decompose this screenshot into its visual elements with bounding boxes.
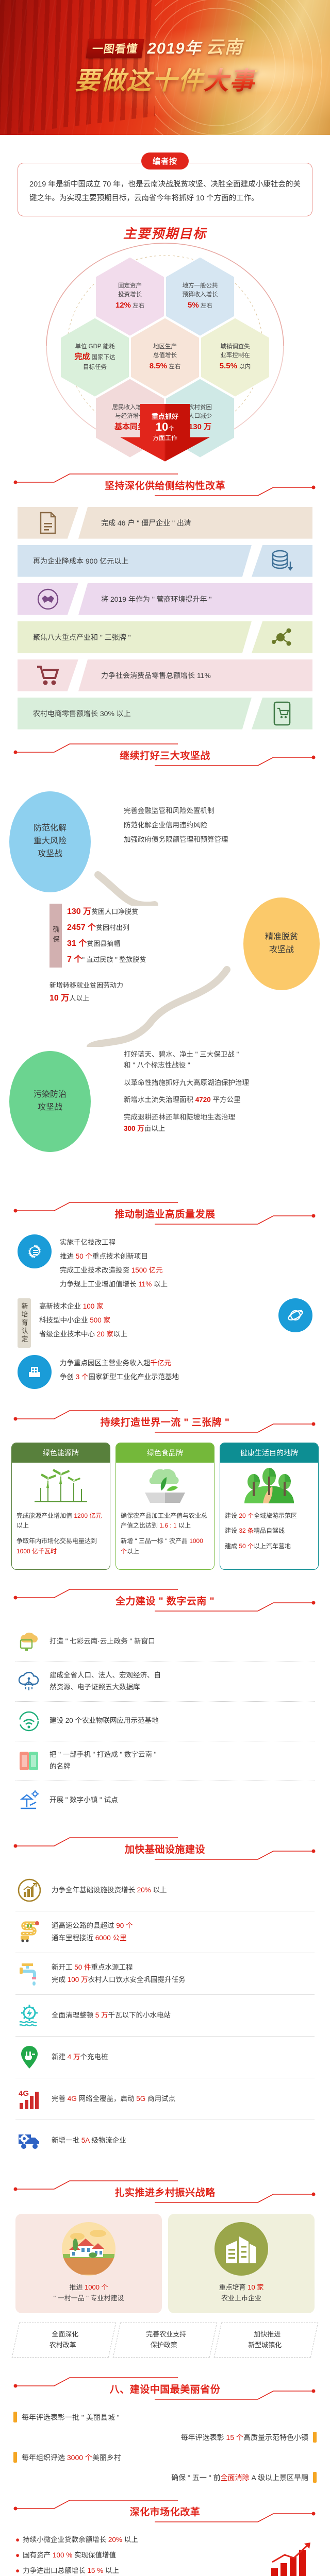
- battle-line: 加强政府债务限额管理和预算管理: [124, 833, 228, 847]
- atom-icon: [278, 1298, 312, 1332]
- section-title-battles: 继续打好三大攻坚战: [0, 736, 330, 774]
- infra-row-text: 全面清理整顿 5 万千瓦以下的小水电站: [52, 2009, 171, 2022]
- mfg-line: 实施千亿技改工程: [60, 1235, 168, 1249]
- battle-bubble-label: 污染防治攻坚战: [34, 1089, 67, 1114]
- shopping-cart-icon: [18, 659, 78, 691]
- village-chip: 加快推进新型城镇化: [214, 2323, 318, 2358]
- battle-risk: 防范化解重大风险攻坚战 完善金融监管和风险处置机制防范化解企业信用违约风险加强政…: [0, 777, 330, 906]
- village-chips: 全面深化农村改革完善农业支持保护政策加快推进新型城镇化: [0, 2313, 330, 2358]
- infra-row-text: 完善 4G 网络全覆盖，启动 5G 商用试点: [52, 2093, 175, 2105]
- mfg-line: 力争重点园区主营业务收入超千亿元: [60, 1356, 179, 1370]
- main-goals-section: 主要预期目标 固定资产投资增长12% 左右地方一般公共预算收入增长5% 左右单位…: [0, 217, 330, 460]
- svg-text:4G: 4G: [19, 2089, 29, 2098]
- digital-row: 建成全省人口、法人、宏观经济、自然资源、电子证照五大数据库: [15, 1662, 315, 1702]
- ensure-line: 7 个" 直过民族 " 整族脱贫: [67, 952, 146, 968]
- section-label-reform: 深化市场化改革: [0, 2504, 330, 2518]
- infra-row: 力争全年基础设施投资增长 20% 以上: [15, 1870, 315, 1911]
- hero-year: 2019年: [147, 35, 202, 58]
- battle-line: 防范化解企业信用违约风险: [124, 818, 228, 833]
- mfg-lines-1: 实施千亿技改工程推进 50 个重点技术创新项目完成工业技术改造投资 1500 亿…: [60, 1234, 168, 1291]
- supply-row-text: 力争社会消费品零售总额增长 11%: [78, 659, 312, 691]
- village-chip: 完善农业支持保护政策: [113, 2323, 217, 2358]
- beauty-row: 每年组织评选 3000 个美丽乡村: [13, 2452, 317, 2463]
- mfg-line: 省级企业技术中心 20 家以上: [39, 1327, 270, 1341]
- section-title-supply: 坚持深化供给侧结构性改革: [0, 466, 330, 504]
- mfg-vtag: 新培育认定: [18, 1298, 31, 1348]
- infra-row: 4G完善 4G 网络全覆盖，启动 5G 商用试点: [15, 2078, 315, 2120]
- supply-row-text: 农村电商零售额增长 30% 以上: [18, 698, 252, 730]
- poverty-extra-number: 10 万: [49, 994, 69, 1003]
- focus-arrow-line3: 方面工作: [153, 433, 177, 442]
- building-icon: [18, 1355, 52, 1389]
- infra-row-text: 新开工 50 件重点水源工程完成 100 万农村人口饮水安全巩固提升任务: [52, 1961, 186, 1986]
- mfg-group-1: 实施千亿技改工程推进 50 个重点技术创新项目完成工业技术改造投资 1500 亿…: [18, 1234, 312, 1291]
- brand-card: 绿色食品牌确保农产品加工业产值与农业总产值之比达到 1.6 : 1 以上新增 "…: [115, 1443, 214, 1570]
- supply-row-text: 再为企业降成本 900 亿元以上: [18, 545, 252, 577]
- digital-row-text: 打造 " 七彩云南·云上政务 " 新窗口: [49, 1636, 155, 1648]
- forest-path-icon: [220, 1463, 318, 1507]
- salad-bowl-icon: [116, 1463, 214, 1507]
- poverty-ensure-block: 确保 130 万贫困人口净脱贫2457 个贫困村出列31 个贫困县摘帽7 个" …: [49, 904, 204, 968]
- goal-hex: 固定资产投资增长12% 左右: [96, 258, 164, 336]
- focus-arrow-unit: 个: [168, 425, 174, 432]
- brand-card-body: 确保农产品加工业产值与农业总产值之比达到 1.6 : 1 以上新增 " 三品一标…: [116, 1507, 214, 1569]
- focus-arrow-number: 10: [156, 420, 168, 433]
- goal-hex: 单位 GDP 能耗完成 国家下达目标任务: [61, 318, 129, 397]
- battle-line: 以革命性措施抓好九大高原湖泊保护治理: [124, 1077, 320, 1089]
- battle-line: 完善金融监管和风险处置机制: [124, 804, 228, 818]
- ensure-line: 130 万贫困人口净脱贫: [67, 904, 146, 920]
- brand-card: 绿色能源牌完成能源产业增加值 1200 亿元以上争取年内市场化交易电量达到 10…: [11, 1443, 110, 1570]
- poverty-extra: 新增转移就业贫困劳动力 10 万人以上: [49, 980, 123, 1006]
- beauty-row-text: 确保 " 五一 " 前全面消除 A 级以上景区旱厕: [171, 2472, 308, 2483]
- handshake-icon: [18, 583, 78, 615]
- infra-row-text: 新建 4 万个充电桩: [52, 2051, 108, 2063]
- battle-line: 完成退耕还林还草和陡坡地生态治理300 万亩以上: [124, 1112, 320, 1134]
- supply-row: 力争社会消费品零售总额增长 11%: [18, 659, 312, 691]
- battle-bubble-label: 防范化解重大风险攻坚战: [34, 822, 67, 860]
- digital-row: 开展 " 数字小镇 " 试点: [15, 1781, 315, 1820]
- brand-card-title: 健康生活目的地牌: [220, 1443, 318, 1463]
- infra-row: 通高速公路的县超过 90 个通车里程接近 6000 公里: [15, 1911, 315, 1953]
- battle-bubble-label: 精准脱贫攻坚战: [265, 931, 298, 957]
- village-chip: 全面深化农村改革: [12, 2323, 116, 2358]
- digital-row-text: 建成全省人口、法人、宏观经济、自然资源、电子证照五大数据库: [49, 1670, 161, 1693]
- digital-row-text: 开展 " 数字小镇 " 试点: [49, 1794, 118, 1806]
- supply-side-list: 完成 46 户 " 僵尸企业 " 出清再为企业降成本 900 亿元以上将 201…: [0, 504, 330, 730]
- section-label-supply: 坚持深化供给侧结构性改革: [0, 478, 330, 492]
- section-label-battles: 继续打好三大攻坚战: [0, 748, 330, 762]
- mfg-group-2: 新培育认定 高新技术企业 100 家科技型中小企业 500 家省级企业技术中心 …: [18, 1298, 312, 1348]
- infra-row-text: 通高速公路的县超过 90 个通车里程接近 6000 公里: [52, 1920, 133, 1944]
- poverty-extra-rest: 人以上: [69, 994, 89, 1002]
- section-title-village: 扎实推进乡村振兴战略: [0, 2173, 330, 2211]
- village-card: 重点培育 10 家农业上市企业: [168, 2214, 315, 2313]
- digital-yunnan-list: 打造 " 七彩云南·云上政务 " 新窗口建成全省人口、法人、宏观经济、自然资源、…: [0, 1619, 330, 1820]
- logistics-truck-icon: [15, 2127, 43, 2155]
- battle-lines-risk: 完善金融监管和风险处置机制防范化解企业信用违约风险加强政府债务限额管理和预算管理: [124, 804, 228, 848]
- infra-row: 新开工 50 件重点水源工程完成 100 万农村人口饮水安全巩固提升任务: [15, 1953, 315, 1995]
- infra-row-text: 新增一批 5A 级物流企业: [52, 2134, 126, 2147]
- section-label-infra: 加快基础设施建设: [0, 1842, 330, 1856]
- highway-icon: [15, 1918, 43, 1946]
- beautiful-province-list: 每年评选表彰一批 " 美丽县城 "每年评选表彰 15 个高质量示范特色小镇每年组…: [0, 2408, 330, 2483]
- reform-section: ●持续小微企业贷款余额增长 20% 以上●国有资产 100 % 实现保值增值●力…: [0, 2530, 330, 2576]
- editor-note-text: 2019 年是新中国成立 70 年，也是云南决战脱贫攻坚、决胜全面建成小康社会的…: [29, 178, 301, 206]
- accent-bar: [13, 2452, 17, 2463]
- section-label-digital: 全力建设 " 数字云南 ": [0, 1594, 330, 1607]
- accent-bar: [13, 2412, 17, 2422]
- section-label-village: 扎实推进乡村振兴战略: [0, 2185, 330, 2199]
- faucet-icon: [15, 1960, 43, 1988]
- battle-bubble-risk: 防范化解重大风险攻坚战: [9, 791, 91, 892]
- section-title-mfg: 推动制造业高质量发展: [0, 1194, 330, 1232]
- beauty-row: 每年评选表彰 15 个高质量示范特色小镇: [13, 2432, 317, 2443]
- mfg-line: 科技型中小企业 500 家: [39, 1313, 270, 1327]
- beauty-row-text: 每年评选表彰 15 个高质量示范特色小镇: [181, 2432, 308, 2443]
- section-title-cards: 持续打造世界一流 " 三张牌 ": [0, 1402, 330, 1440]
- supply-row: 将 2019 年作为 " 营商环境提升年 ": [18, 583, 312, 615]
- growth-arrow-icon: [267, 2541, 315, 2576]
- section-title-reform: 深化市场化改革: [0, 2492, 330, 2530]
- focus-arrow-line2: 10个: [156, 421, 175, 433]
- beauty-row: 每年评选表彰一批 " 美丽县城 ": [13, 2412, 317, 2422]
- supply-row: 聚焦八大重点产业和 " 三张牌 ": [18, 621, 312, 653]
- manufacturing-section: 实施千亿技改工程推进 50 个重点技术创新项目完成工业技术改造投资 1500 亿…: [0, 1232, 330, 1389]
- reform-line: ●持续小微企业贷款余额增长 20% 以上: [15, 2532, 260, 2548]
- mfg-line: 力争规上工业增加值增长 11% 以上: [60, 1277, 168, 1291]
- ensure-line: 31 个贫困县摘帽: [67, 936, 146, 952]
- battle-lines-pollution: 打好蓝天、碧水、净土 " 三大保卫战 "和 " 八个标志性战役 "以革命性措施抓…: [124, 1049, 320, 1141]
- beauty-row-text: 每年评选表彰一批 " 美丽县城 ": [22, 2412, 120, 2422]
- ensure-line: 2457 个贫困村出列: [67, 920, 146, 936]
- battle-line: 新增水土流失治理面积 4720 平方公里: [124, 1094, 320, 1106]
- main-goals-title: 主要预期目标: [0, 224, 330, 242]
- accent-bar: [313, 2472, 317, 2483]
- ensure-tag: 确保: [49, 904, 62, 968]
- editor-note: 编者按 2019 年是新中国成立 70 年，也是云南决战脱贫攻坚、决胜全面建成小…: [18, 152, 312, 216]
- battle-bubble-poverty: 精准脱贫攻坚战: [243, 897, 320, 990]
- brand-card: 健康生活目的地牌建设 20 个全域旅游示范区建设 32 条精品自驾线建成 50 …: [220, 1443, 319, 1570]
- hero-province: 云南: [206, 33, 243, 58]
- beauty-row: 确保 " 五一 " 前全面消除 A 级以上景区旱厕: [13, 2472, 317, 2483]
- village-cards: 推进 1000 个" 一村一品 " 专业村建设重点培育 10 家农业上市企业: [0, 2211, 330, 2313]
- signal-4g-icon: 4G: [15, 2085, 43, 2113]
- coins-down-icon: [252, 545, 312, 577]
- cloud-monitor-icon: [15, 1629, 42, 1655]
- reform-line: ●国有资产 100 % 实现保值增值: [15, 2548, 260, 2563]
- phone-pair-icon: [15, 1748, 42, 1774]
- village-card-caption: 重点培育 10 家农业上市企业: [173, 2282, 309, 2304]
- brand-card-body: 建设 20 个全域旅游示范区建设 32 条精品自驾线建成 50 个以上汽车营地: [220, 1507, 318, 1564]
- reform-line: ●力争进出口总额增长 15 % 以上: [15, 2563, 260, 2576]
- section-title-infra: 加快基础设施建设: [0, 1829, 330, 1868]
- goal-hex: 城镇调查失业率控制在5.5% 以内: [201, 318, 269, 397]
- growth-chart-icon: [15, 1876, 43, 1904]
- focus-arrow-line1: 重点抓好: [152, 411, 178, 421]
- digital-row: 把 " 一部手机 " 打造成 " 数字云南 "的名牌: [15, 1741, 315, 1781]
- mfg-lines-2: 高新技术企业 100 家科技型中小企业 500 家省级企业技术中心 20 家以上: [39, 1298, 270, 1341]
- supply-row: 农村电商零售额增长 30% 以上: [18, 698, 312, 730]
- battle-line: 打好蓝天、碧水、净土 " 三大保卫战 "和 " 八个标志性战役 ": [124, 1049, 320, 1071]
- section-label-beauty: 八、建设中国最美丽省份: [0, 2382, 330, 2396]
- village-card: 推进 1000 个" 一村一品 " 专业村建设: [15, 2214, 162, 2313]
- focus-arrow: 重点抓好 10个 方面工作: [120, 404, 210, 462]
- document-icon: [18, 507, 78, 539]
- mfg-group-3: 力争重点园区主营业务收入超千亿元争创 3 个国家新型工业化产业示范基地: [18, 1355, 312, 1389]
- hero-headline-main: 要做这十件: [75, 67, 204, 95]
- accent-bar: [313, 2432, 317, 2443]
- mfg-line: 高新技术企业 100 家: [39, 1299, 270, 1313]
- poverty-extra-label: 新增转移就业贫困劳动力: [49, 980, 123, 992]
- goal-hex: 地区生产总值增长8.5% 左右: [131, 318, 199, 397]
- hero-headline-accent: 大事: [204, 67, 255, 95]
- hydropower-icon: [15, 2002, 43, 2029]
- village-card-caption: 推进 1000 个" 一村一品 " 专业村建设: [21, 2282, 157, 2304]
- section-title-beauty: 八、建设中国最美丽省份: [0, 2369, 330, 2408]
- battle-bubble-pollution: 污染防治攻坚战: [9, 1051, 91, 1152]
- infra-row: 全面清理整顿 5 万千瓦以下的小水电站: [15, 1995, 315, 2037]
- editor-note-badge: 编者按: [141, 152, 189, 170]
- editor-note-box: 2019 年是新中国成立 70 年，也是云南决战脱贫攻坚、决胜全面建成小康社会的…: [18, 163, 312, 216]
- infra-row: 新建 4 万个充电桩: [15, 2037, 315, 2078]
- digital-row-text: 建设 20 个农业物联网应用示范基地: [49, 1715, 159, 1727]
- mfg-line: 完成工业技术改造投资 1500 亿元: [60, 1263, 168, 1277]
- infra-row: 新增一批 5A 级物流企业: [15, 2120, 315, 2161]
- gear-chip-icon: [18, 1234, 52, 1268]
- hero-headline: 要做这十件大事: [0, 60, 330, 96]
- bullet-icon: ●: [15, 2551, 20, 2559]
- brand-card-title: 绿色能源牌: [12, 1443, 110, 1463]
- mobile-cart-icon: [252, 698, 312, 730]
- brand-card-body: 完成能源产业增加值 1200 亿元以上争取年内市场化交易电量达到 1000 亿千…: [12, 1507, 110, 1569]
- section-label-mfg: 推动制造业高质量发展: [0, 1207, 330, 1221]
- battle-poverty: 精准脱贫攻坚战 确保 130 万贫困人口净脱贫2457 个贫困村出列31 个贫困…: [0, 892, 330, 1047]
- supply-row-text: 将 2019 年作为 " 营商环境提升年 ": [78, 583, 312, 615]
- three-cards-list: 绿色能源牌完成能源产业增加值 1200 亿元以上争取年内市场化交易电量达到 10…: [0, 1440, 330, 1570]
- hero-tag: 一图看懂: [86, 39, 144, 58]
- mfg-lines-3: 力争重点园区主营业务收入超千亿元争创 3 个国家新型工业化产业示范基地: [60, 1355, 179, 1384]
- section-title-digital: 全力建设 " 数字云南 ": [0, 1581, 330, 1619]
- hero-banner: 一图看懂 2019年 云南 要做这十件大事: [0, 0, 330, 135]
- ensure-lines: 130 万贫困人口净脱贫2457 个贫困村出列31 个贫困县摘帽7 个" 直过民…: [67, 904, 146, 968]
- beauty-row-text: 每年组织评选 3000 个美丽乡村: [22, 2452, 121, 2463]
- village-house-icon: [62, 2222, 115, 2276]
- mfg-line: 争创 3 个国家新型工业化产业示范基地: [60, 1370, 179, 1384]
- bullet-icon: ●: [15, 2536, 20, 2544]
- digital-row: 打造 " 七彩云南·云上政务 " 新窗口: [15, 1622, 315, 1662]
- brand-card-title: 绿色食品牌: [116, 1443, 214, 1463]
- supply-row: 再为企业降成本 900 亿元以上: [18, 545, 312, 577]
- supply-row-text: 完成 46 户 " 僵尸企业 " 出清: [78, 507, 312, 539]
- section-label-cards: 持续打造世界一流 " 三张牌 ": [0, 1415, 330, 1429]
- battle-pollution: 污染防治攻坚战 打好蓝天、碧水、净土 " 三大保卫战 "和 " 八个标志性战役 …: [0, 1038, 330, 1188]
- network-icon: [252, 621, 312, 653]
- mfg-line: 推进 50 个重点技术创新项目: [60, 1249, 168, 1263]
- infra-row-text: 力争全年基础设施投资增长 20% 以上: [52, 1884, 167, 1896]
- three-battles-section: 防范化解重大风险攻坚战 完善金融监管和风险处置机制防范化解企业信用违约风险加强政…: [0, 774, 330, 1188]
- digital-row: 建设 20 个农业物联网应用示范基地: [15, 1702, 315, 1741]
- digital-row-text: 把 " 一部手机 " 打造成 " 数字云南 "的名牌: [49, 1749, 156, 1773]
- infrastructure-list: 力争全年基础设施投资增长 20% 以上通高速公路的县超过 90 个通车里程接近 …: [0, 1868, 330, 2161]
- iot-wifi-icon: [15, 1708, 42, 1735]
- office-tower-icon: [214, 2222, 268, 2276]
- charging-pin-icon: [15, 2043, 43, 2071]
- bullet-icon: ●: [15, 2567, 20, 2574]
- reform-lines: ●持续小微企业贷款余额增长 20% 以上●国有资产 100 % 实现保值增值●力…: [15, 2532, 260, 2576]
- supply-row: 完成 46 户 " 僵尸企业 " 出清: [18, 507, 312, 539]
- cloud-data-icon: [15, 1668, 42, 1695]
- supply-row-text: 聚焦八大重点产业和 " 三张牌 ": [18, 621, 252, 653]
- wind-turbine-icon: [12, 1463, 110, 1507]
- digital-town-icon: [15, 1787, 42, 1814]
- goal-hex: 地方一般公共预算收入增长5% 左右: [166, 258, 234, 336]
